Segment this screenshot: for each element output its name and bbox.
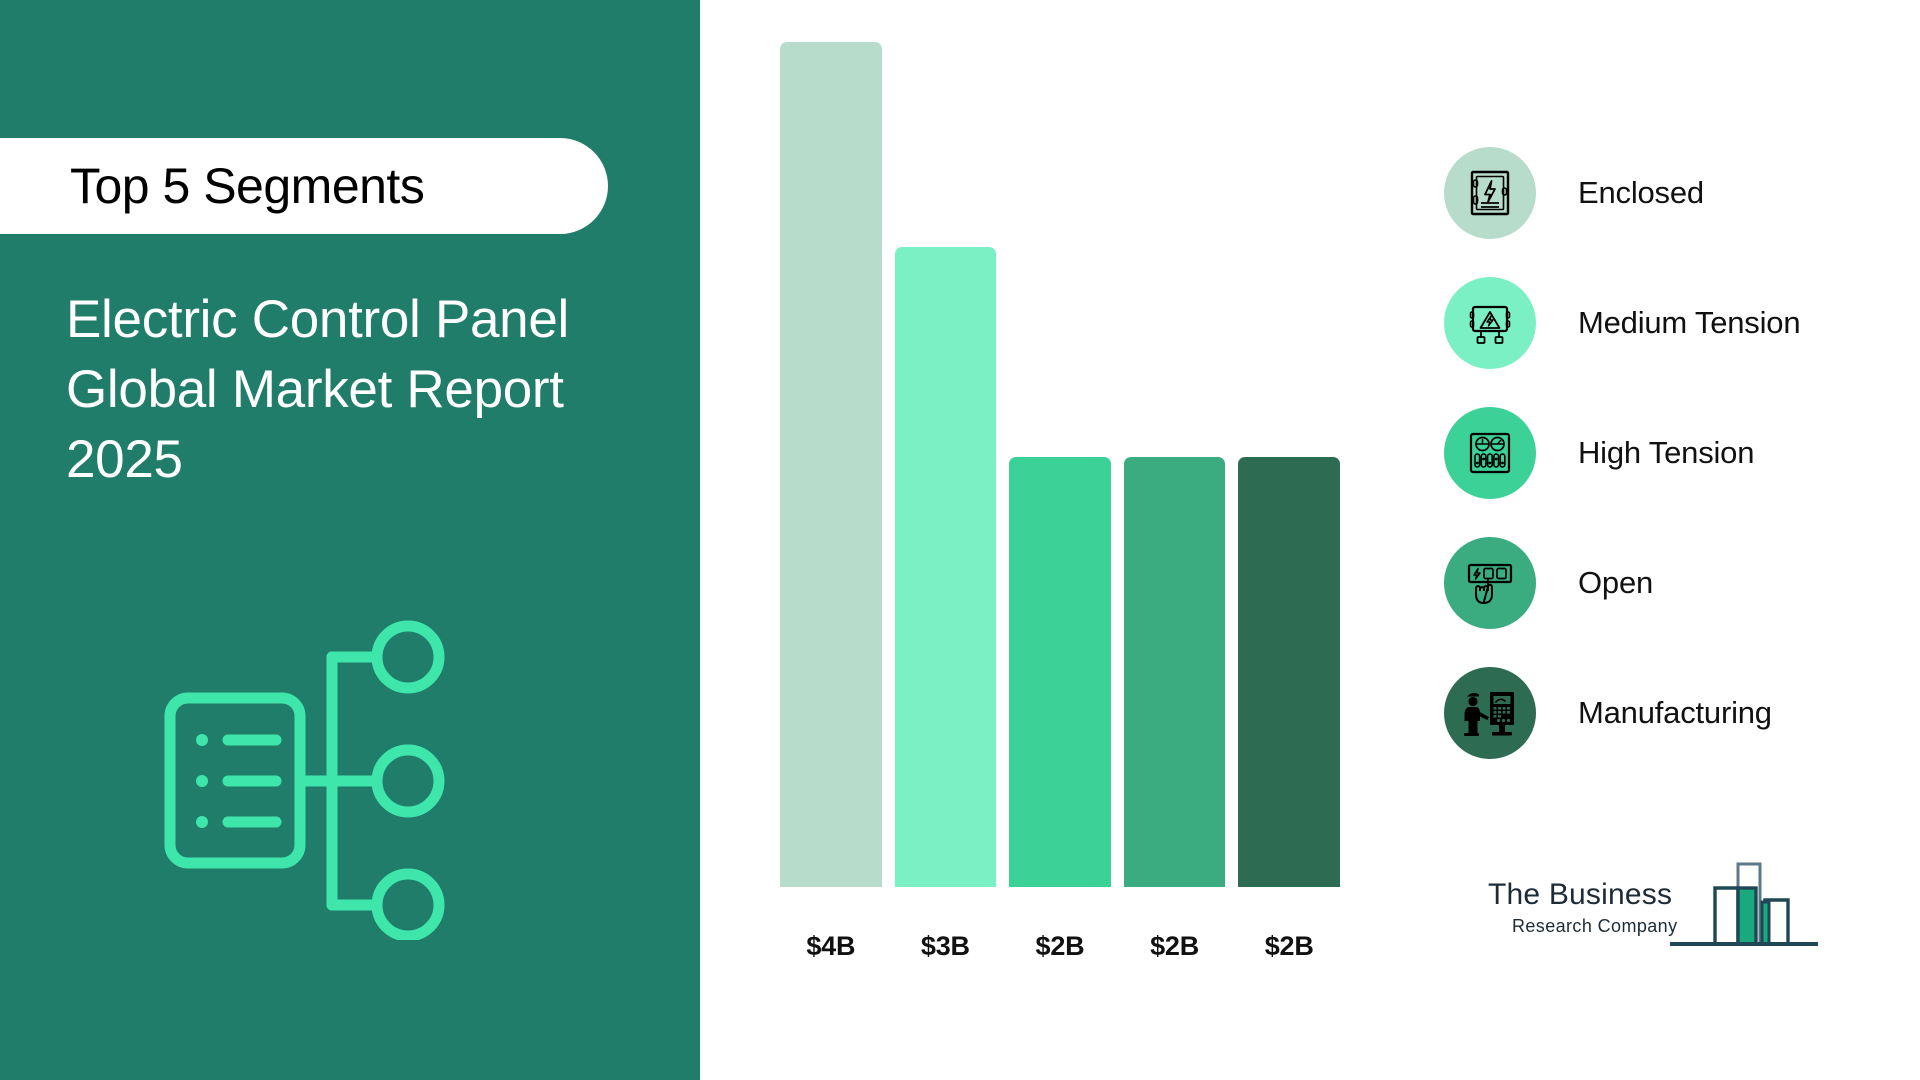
bar-series xyxy=(780,32,1340,887)
legend-item-manufacturing: Manufacturing xyxy=(1444,648,1914,778)
infographic-page: Top 5 Segments Electric Control Panel Gl… xyxy=(0,0,1920,1080)
legend-label: Enclosed xyxy=(1578,175,1704,211)
gauge-control-panel-icon xyxy=(1444,407,1536,499)
bar-2 xyxy=(895,247,997,887)
bar-value-labels: $4B $3B $2B $2B $2B xyxy=(780,931,1340,962)
bar-5 xyxy=(1238,457,1340,887)
chart-legend: Enclosed Medium Tension xyxy=(1444,128,1914,778)
legend-item-open: Open xyxy=(1444,518,1914,648)
bar-value-label: $3B xyxy=(895,931,997,962)
document-hierarchy-icon xyxy=(160,620,500,940)
enclosed-panel-icon xyxy=(1444,147,1536,239)
legend-label: Open xyxy=(1578,565,1653,601)
legend-label: Manufacturing xyxy=(1578,695,1772,731)
bar-value-label: $2B xyxy=(1009,931,1111,962)
hand-switch-icon xyxy=(1444,537,1536,629)
segments-ribbon: Top 5 Segments xyxy=(0,138,608,234)
bar-value-label: $2B xyxy=(1238,931,1340,962)
transformer-warning-icon xyxy=(1444,277,1536,369)
legend-item-enclosed: Enclosed xyxy=(1444,128,1914,258)
bar-1 xyxy=(780,42,882,887)
bar-3 xyxy=(1009,457,1111,887)
ribbon-label: Top 5 Segments xyxy=(70,157,424,215)
bar-chart: $4B $3B $2B $2B $2B xyxy=(700,0,1360,1080)
legend-item-high-tension: High Tension xyxy=(1444,388,1914,518)
bar-value-label: $4B xyxy=(780,931,882,962)
left-panel: Top 5 Segments Electric Control Panel Gl… xyxy=(0,0,700,1080)
legend-label: Medium Tension xyxy=(1578,305,1800,341)
logo-text: The Business Research Company xyxy=(1488,880,1698,935)
bar-chart-logo-mark xyxy=(1670,862,1818,959)
page-title: Electric Control Panel Global Market Rep… xyxy=(66,285,666,495)
legend-item-medium-tension: Medium Tension xyxy=(1444,258,1914,388)
company-logo: The Business Research Company xyxy=(1488,862,1818,972)
factory-operator-icon xyxy=(1444,667,1536,759)
legend-label: High Tension xyxy=(1578,435,1754,471)
bar-value-label: $2B xyxy=(1124,931,1226,962)
logo-line-1: The Business xyxy=(1488,880,1698,910)
bar-4 xyxy=(1124,457,1226,887)
